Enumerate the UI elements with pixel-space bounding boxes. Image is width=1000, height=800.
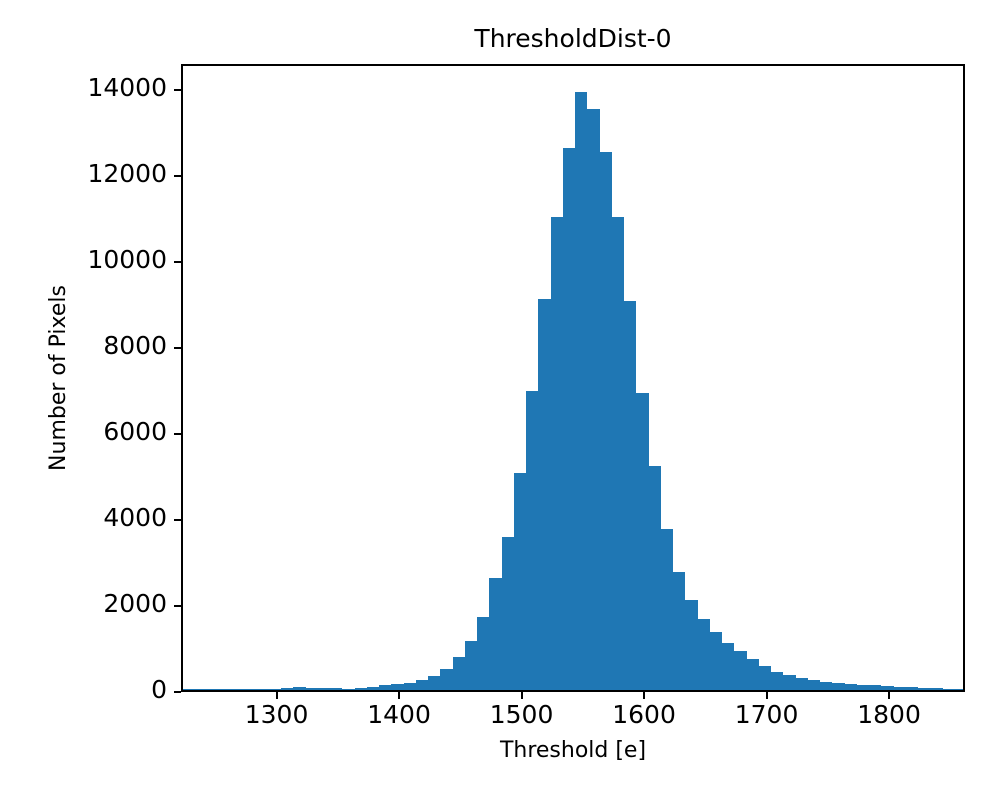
y-tick-mark — [174, 347, 181, 349]
y-tick-label: 6000 — [0, 417, 167, 446]
x-tick-mark — [643, 692, 645, 699]
histogram-bar — [514, 473, 526, 690]
histogram-bar — [183, 689, 195, 690]
histogram-bar — [832, 683, 844, 690]
histogram-bar — [587, 109, 599, 690]
histogram-bar — [477, 617, 489, 690]
histogram-bar — [845, 684, 857, 690]
histogram-bar — [232, 689, 244, 690]
histogram-bar — [208, 689, 220, 690]
y-tick-mark — [174, 175, 181, 177]
histogram-bars — [183, 66, 963, 690]
histogram-bar — [306, 688, 318, 690]
histogram-figure: ThresholdDist-0 020004000600080001000012… — [0, 0, 1000, 800]
histogram-bar — [649, 466, 661, 690]
histogram-bar — [698, 619, 710, 690]
histogram-bar — [563, 148, 575, 690]
histogram-bar — [624, 301, 636, 690]
x-tick-label: 1500 — [462, 700, 582, 729]
histogram-bar — [808, 680, 820, 690]
histogram-bar — [502, 537, 514, 690]
histogram-bar — [428, 676, 440, 690]
y-axis-label: Number of Pixels — [46, 285, 71, 471]
histogram-bar — [759, 666, 771, 690]
histogram-bar — [636, 393, 648, 690]
histogram-bar — [257, 689, 269, 690]
histogram-bar — [489, 578, 501, 690]
histogram-bar — [894, 687, 906, 690]
plot-area — [181, 64, 965, 692]
histogram-bar — [661, 529, 673, 690]
histogram-bar — [379, 685, 391, 690]
histogram-bar — [404, 683, 416, 690]
histogram-bar — [269, 689, 281, 690]
histogram-bar — [330, 688, 342, 690]
histogram-bar — [195, 689, 207, 690]
histogram-bar — [930, 688, 942, 690]
histogram-bar — [342, 689, 354, 691]
y-tick-mark — [174, 691, 181, 693]
y-tick-mark — [174, 519, 181, 521]
histogram-bar — [857, 685, 869, 690]
histogram-bar — [820, 682, 832, 690]
histogram-bar — [465, 641, 477, 690]
histogram-bar — [881, 686, 893, 690]
histogram-bar — [318, 688, 330, 690]
histogram-bar — [600, 152, 612, 690]
histogram-bar — [391, 684, 403, 690]
y-tick-mark — [174, 89, 181, 91]
histogram-bar — [551, 217, 563, 690]
histogram-bar — [747, 659, 759, 690]
histogram-bar — [943, 689, 955, 690]
histogram-bar — [918, 688, 930, 690]
histogram-bar — [955, 689, 963, 690]
x-tick-label: 1600 — [584, 700, 704, 729]
y-tick-label: 4000 — [0, 503, 167, 532]
x-tick-label: 1400 — [339, 700, 459, 729]
y-tick-label: 14000 — [0, 73, 167, 102]
histogram-bar — [538, 299, 550, 690]
histogram-bar — [440, 669, 452, 690]
histogram-bar — [367, 687, 379, 690]
histogram-bar — [906, 687, 918, 690]
histogram-bar — [771, 672, 783, 690]
x-tick-mark — [398, 692, 400, 699]
x-tick-mark — [766, 692, 768, 699]
histogram-bar — [710, 632, 722, 690]
y-tick-label: 8000 — [0, 331, 167, 360]
y-tick-label: 12000 — [0, 159, 167, 188]
histogram-bar — [796, 678, 808, 690]
histogram-bar — [281, 688, 293, 690]
histogram-bar — [673, 572, 685, 690]
histogram-bar — [869, 685, 881, 690]
y-tick-label: 10000 — [0, 245, 167, 274]
histogram-bar — [783, 675, 795, 690]
histogram-bar — [526, 391, 538, 690]
x-tick-mark — [521, 692, 523, 699]
histogram-bar — [612, 217, 624, 690]
y-tick-label: 0 — [0, 675, 167, 704]
page-title: ThresholdDist-0 — [181, 24, 965, 54]
x-axis-label: Threshold [e] — [181, 738, 965, 763]
histogram-bar — [685, 600, 697, 690]
y-tick-mark — [174, 605, 181, 607]
y-tick-mark — [174, 261, 181, 263]
histogram-bar — [416, 680, 428, 690]
x-tick-label: 1700 — [707, 700, 827, 729]
histogram-bar — [575, 92, 587, 690]
histogram-bar — [734, 651, 746, 690]
histogram-bar — [293, 687, 305, 690]
histogram-bar — [355, 688, 367, 690]
x-tick-label: 1800 — [829, 700, 949, 729]
y-tick-mark — [174, 433, 181, 435]
histogram-bar — [244, 689, 256, 690]
x-tick-label: 1300 — [217, 700, 337, 729]
histogram-bar — [722, 643, 734, 690]
histogram-bar — [453, 657, 465, 690]
x-tick-mark — [888, 692, 890, 699]
histogram-bar — [220, 689, 232, 690]
x-tick-mark — [276, 692, 278, 699]
y-tick-label: 2000 — [0, 589, 167, 618]
